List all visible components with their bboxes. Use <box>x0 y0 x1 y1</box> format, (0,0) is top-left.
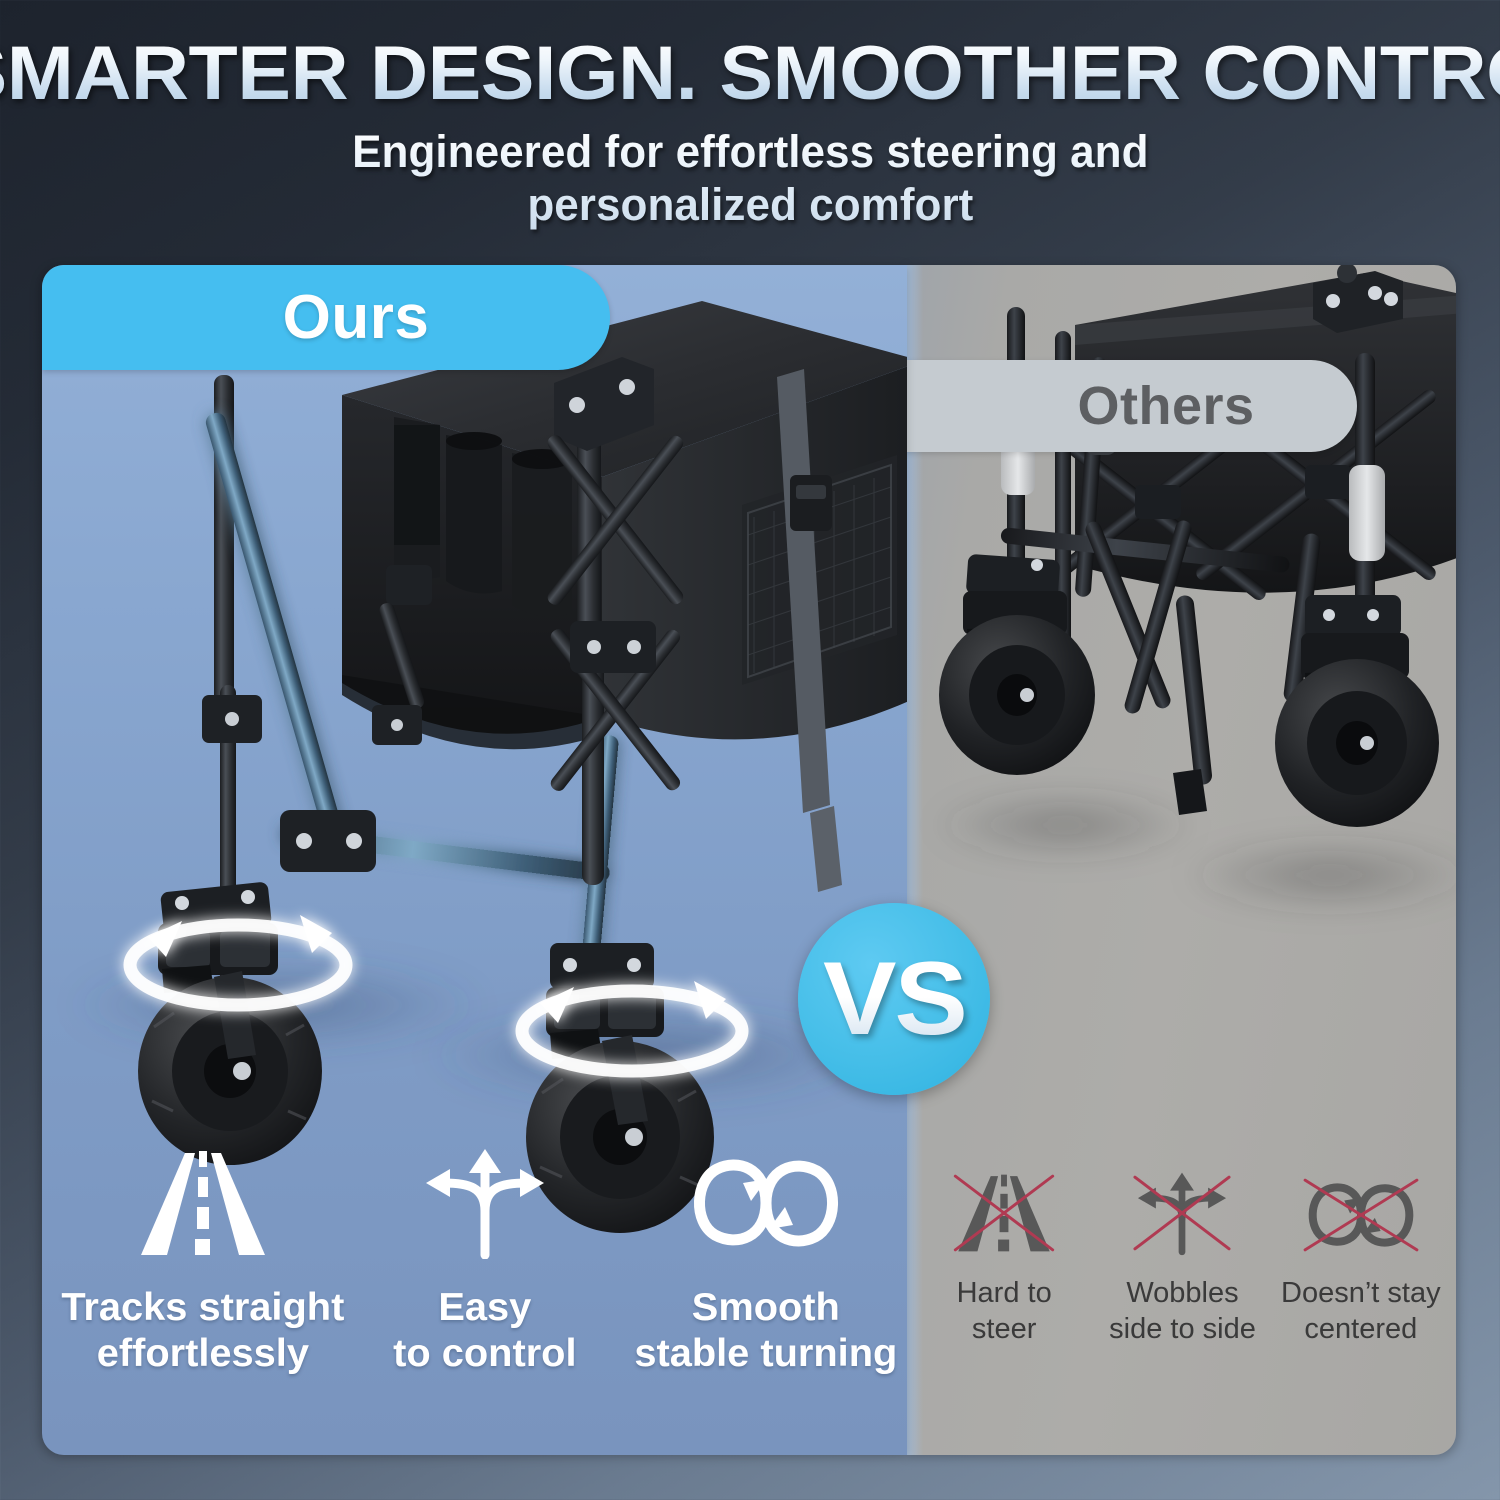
subtitle-line-2: personalized comfort <box>352 179 1148 232</box>
page-title: SMARTER DESIGN. SMOOTHER CONTROL <box>0 36 1500 112</box>
others-feature-list: Hard to steer <box>915 1168 1450 1347</box>
others-feature-not-centered: Doesn’t stay centered <box>1272 1168 1450 1347</box>
others-feature-hard-to-steer: Hard to steer <box>915 1168 1093 1347</box>
ours-feature-label: Tracks straight effortlessly <box>59 1285 346 1377</box>
others-badge: Others <box>905 360 1357 452</box>
ours-panel: Ours <box>42 265 907 1455</box>
others-panel: Others <box>905 265 1456 1455</box>
strike-x <box>1305 1180 1417 1250</box>
others-feature-label: Wobbles side to side <box>1093 1276 1271 1347</box>
ours-badge-label: Ours <box>223 282 430 353</box>
subtitle-line-1: Engineered for effortless steering and <box>352 126 1148 179</box>
strike-x <box>955 1176 1052 1250</box>
header: SMARTER DESIGN. SMOOTHER CONTROL Enginee… <box>0 0 1500 250</box>
ours-feature-tracks-straight: Tracks straight effortlessly <box>62 1141 344 1377</box>
ours-feature-label: Easy to control <box>341 1285 628 1377</box>
others-badge-label: Others <box>1007 375 1254 437</box>
infinity-loop-crossed-icon <box>1272 1168 1450 1256</box>
vs-label: VS <box>823 940 966 1059</box>
ours-feature-list: Tracks straight effortlessly <box>62 1141 907 1377</box>
ours-feature-easy-control: Easy to control <box>344 1141 626 1377</box>
others-feature-label: Doesn’t stay centered <box>1272 1276 1450 1347</box>
multi-direction-arrow-crossed-icon <box>1093 1168 1271 1256</box>
vs-badge: VS <box>798 903 990 1095</box>
multi-direction-arrow-icon <box>344 1141 626 1259</box>
ours-badge: Ours <box>42 265 610 370</box>
comparison-panels: Ours <box>42 265 1456 1455</box>
others-feature-label: Hard to steer <box>915 1276 1093 1347</box>
ours-feature-label: Smooth stable turning <box>623 1285 907 1377</box>
page-subtitle: Engineered for effortless steering and p… <box>352 126 1148 231</box>
ours-feature-smooth-turning: Smooth stable turning <box>625 1141 907 1377</box>
infinity-loop-icon <box>625 1141 907 1259</box>
road-perspective-crossed-icon <box>915 1168 1093 1256</box>
others-feature-wobbles: Wobbles side to side <box>1093 1168 1271 1347</box>
road-perspective-icon <box>62 1141 344 1259</box>
